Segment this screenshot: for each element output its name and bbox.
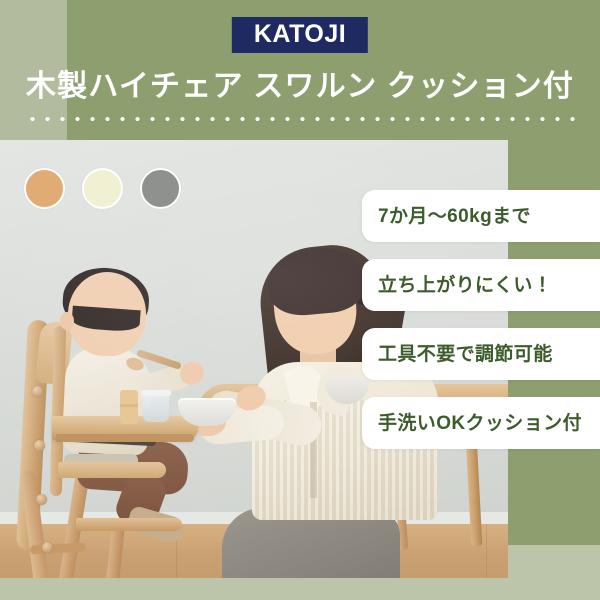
baby-ear xyxy=(60,312,74,330)
feature-callout: 工具不要で調節可能 xyxy=(362,328,600,380)
bottom-green-band-right xyxy=(508,545,600,578)
swatch-gray[interactable] xyxy=(140,168,181,209)
feature-label: 7か月〜60kgまで xyxy=(378,207,531,226)
feature-label: 手洗いOKクッション付 xyxy=(378,414,582,433)
cup-rim xyxy=(141,390,171,396)
drinking-cup xyxy=(143,392,169,422)
dotted-divider xyxy=(25,117,575,121)
bottom-green-band xyxy=(0,578,600,600)
product-banner: KATOJI 木製ハイチェア スワルン クッション付 xyxy=(0,0,600,600)
brand-logo-badge: KATOJI xyxy=(232,17,368,53)
high-chair-brace xyxy=(30,543,86,555)
brand-name: KATOJI xyxy=(254,21,346,48)
product-headline: 木製ハイチェア スワルン クッション付 xyxy=(0,72,600,102)
swatch-natural-tan[interactable] xyxy=(24,168,65,209)
banner-header: KATOJI 木製ハイチェア スワルン クッション付 xyxy=(0,0,600,140)
high-chair-adjust-knob xyxy=(42,542,53,553)
feature-label: 工具不要で調節可能 xyxy=(378,345,553,364)
feature-callout-list: 7か月〜60kgまで 立ち上がりにくい！ 工具不要で調節可能 手洗いOKクッショ… xyxy=(362,190,600,449)
high-chair-footrest xyxy=(76,518,182,531)
high-chair-tray-lip xyxy=(56,434,194,442)
feature-callout: 立ち上がりにくい！ xyxy=(362,259,600,311)
color-swatch-group xyxy=(24,168,181,209)
feature-callout: 7か月〜60kgまで xyxy=(362,190,600,242)
feature-label: 立ち上がりにくい！ xyxy=(378,276,552,295)
high-chair-adjust-knob xyxy=(36,494,47,505)
high-chair-adjust-knob xyxy=(34,440,45,451)
product-photo: 7か月〜60kgまで 立ち上がりにくい！ 工具不要で調節可能 手洗いOKクッショ… xyxy=(0,140,600,600)
feature-callout: 手洗いOKクッション付 xyxy=(362,397,600,449)
swatch-ivory-cream[interactable] xyxy=(82,168,123,209)
wooden-toy-blocks xyxy=(120,390,138,424)
high-chair-seat xyxy=(58,462,166,478)
high-chair-adjust-knob xyxy=(32,386,43,397)
